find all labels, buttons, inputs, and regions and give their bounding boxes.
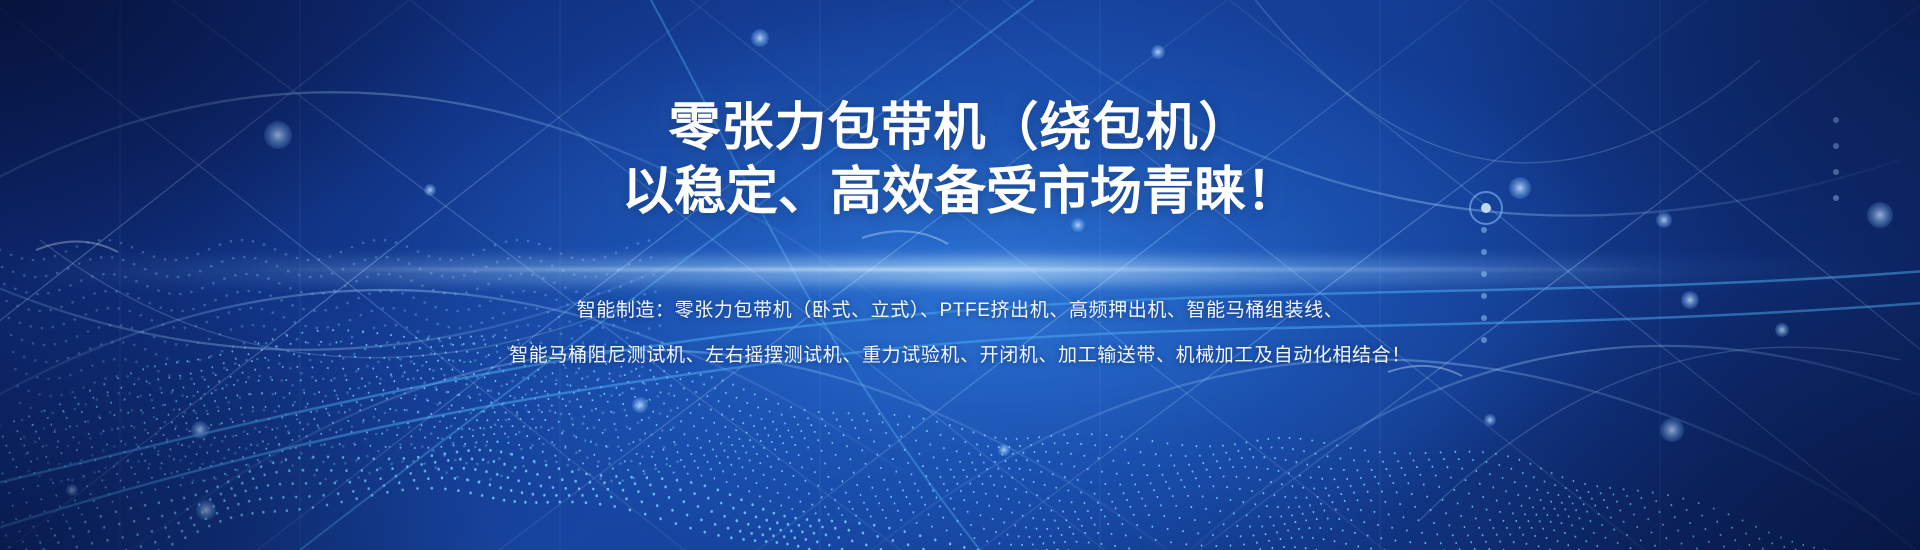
title-line-1: 零张力包带机（绕包机） [0,96,1920,160]
title-line-2: 以稳定、高效备受市场青睐！ [0,160,1920,224]
subtitle-line-2: 智能马桶阻尼测试机、左右摇摆测试机、重力试验机、开闭机、加工输送带、机械加工及自… [0,333,1920,378]
subtitle-line-1: 智能制造：零张力包带机（卧式、立式）、PTFE挤出机、高频押出机、智能马桶组装线… [0,288,1920,333]
hero-banner: 零张力包带机（绕包机） 以稳定、高效备受市场青睐！ 智能制造：零张力包带机（卧式… [0,0,1920,550]
banner-title: 零张力包带机（绕包机） 以稳定、高效备受市场青睐！ [0,96,1920,224]
banner-subtitle: 智能制造：零张力包带机（卧式、立式）、PTFE挤出机、高频押出机、智能马桶组装线… [0,288,1920,378]
corner-vignette [0,0,1920,550]
